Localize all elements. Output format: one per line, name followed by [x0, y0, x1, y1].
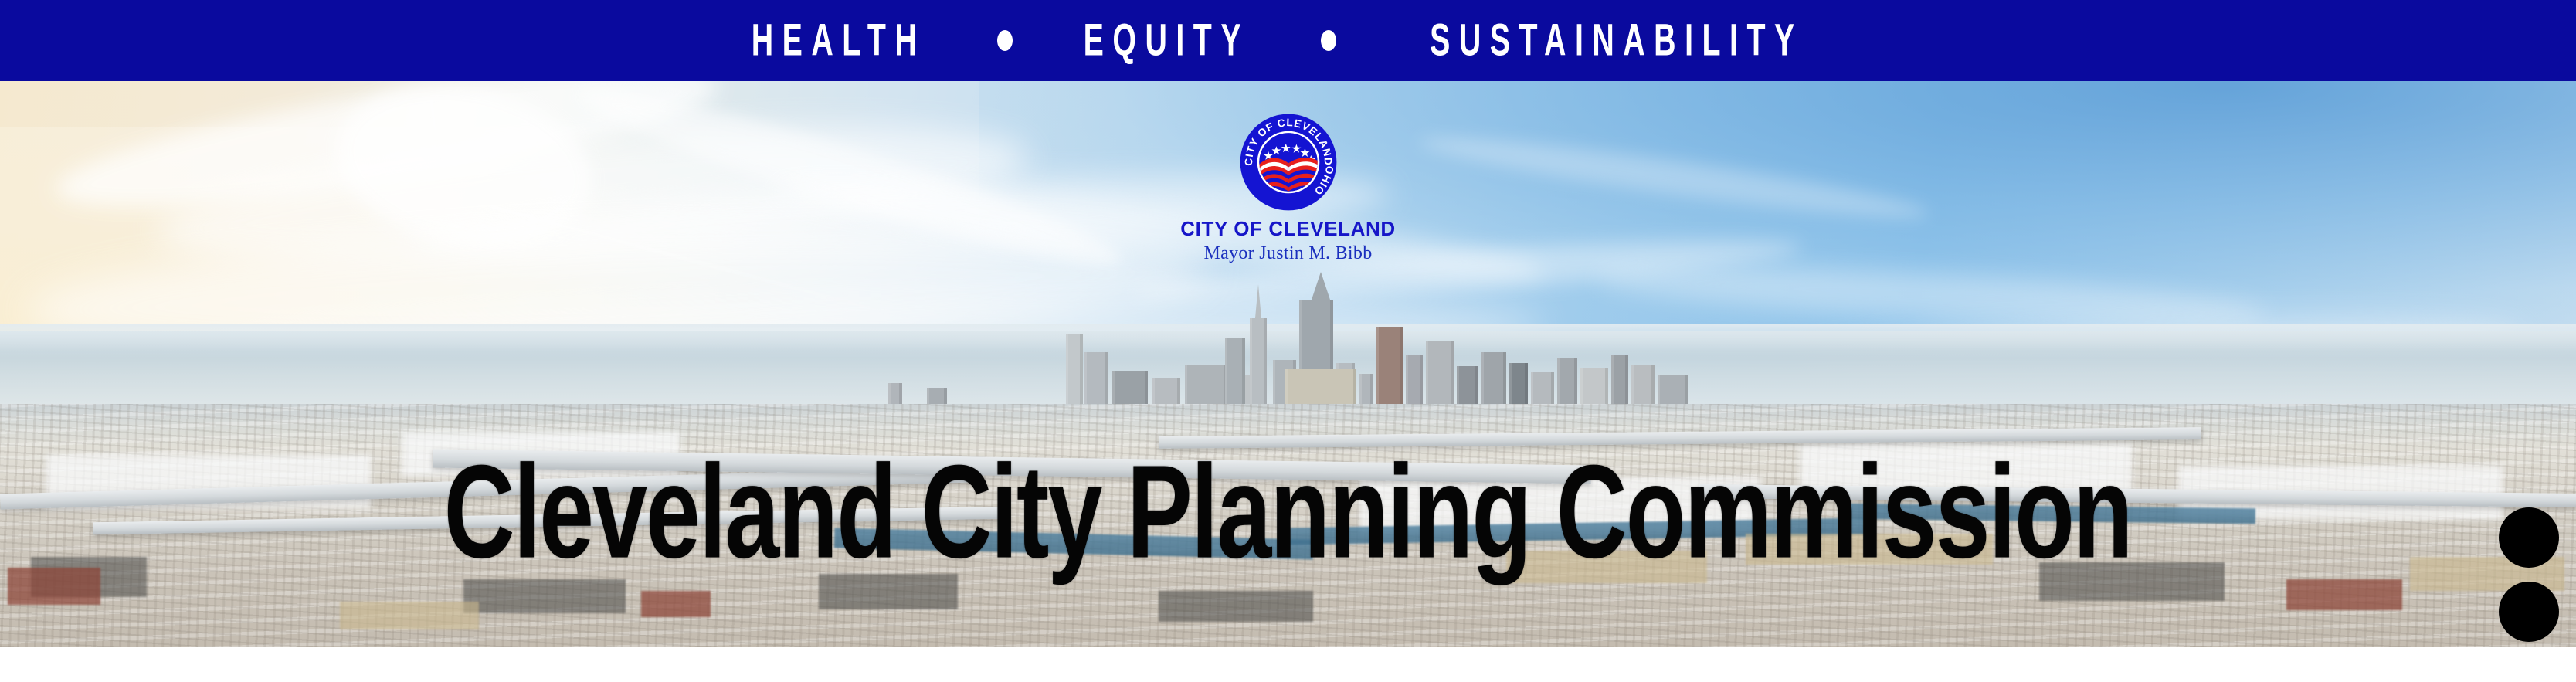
tagline-banner: HEALTH EQUITY SUSTAINABILITY: [0, 0, 2576, 81]
dot-separator-icon: [1321, 30, 1336, 51]
city-branding-block: CITY OF CLEVELAND OHIO: [1126, 112, 1451, 263]
youtube-button[interactable]: [2499, 507, 2559, 568]
youtube-icon: [2511, 520, 2547, 555]
social-links: [2499, 507, 2559, 647]
city-of-cleveland-seal: CITY OF CLEVELAND OHIO: [1238, 112, 1339, 212]
org-name: CITY OF CLEVELAND: [1126, 218, 1451, 240]
mayor-name: Mayor Justin M. Bibb: [1126, 243, 1451, 263]
instagram-icon: [2511, 594, 2547, 629]
page-root: HEALTH EQUITY SUSTAINABILITY: [0, 0, 2576, 682]
instagram-button[interactable]: [2499, 582, 2559, 642]
dot-separator-icon: [997, 30, 1013, 51]
tagline-word-sustainability: SUSTAINABILITY: [1426, 18, 1807, 63]
tagline-word-health: HEALTH: [748, 18, 929, 63]
tagline-word-equity: EQUITY: [1080, 18, 1254, 63]
hero-photo-banner: CITY OF CLEVELAND OHIO: [0, 81, 2576, 647]
bottom-white-strip: [0, 647, 2576, 682]
